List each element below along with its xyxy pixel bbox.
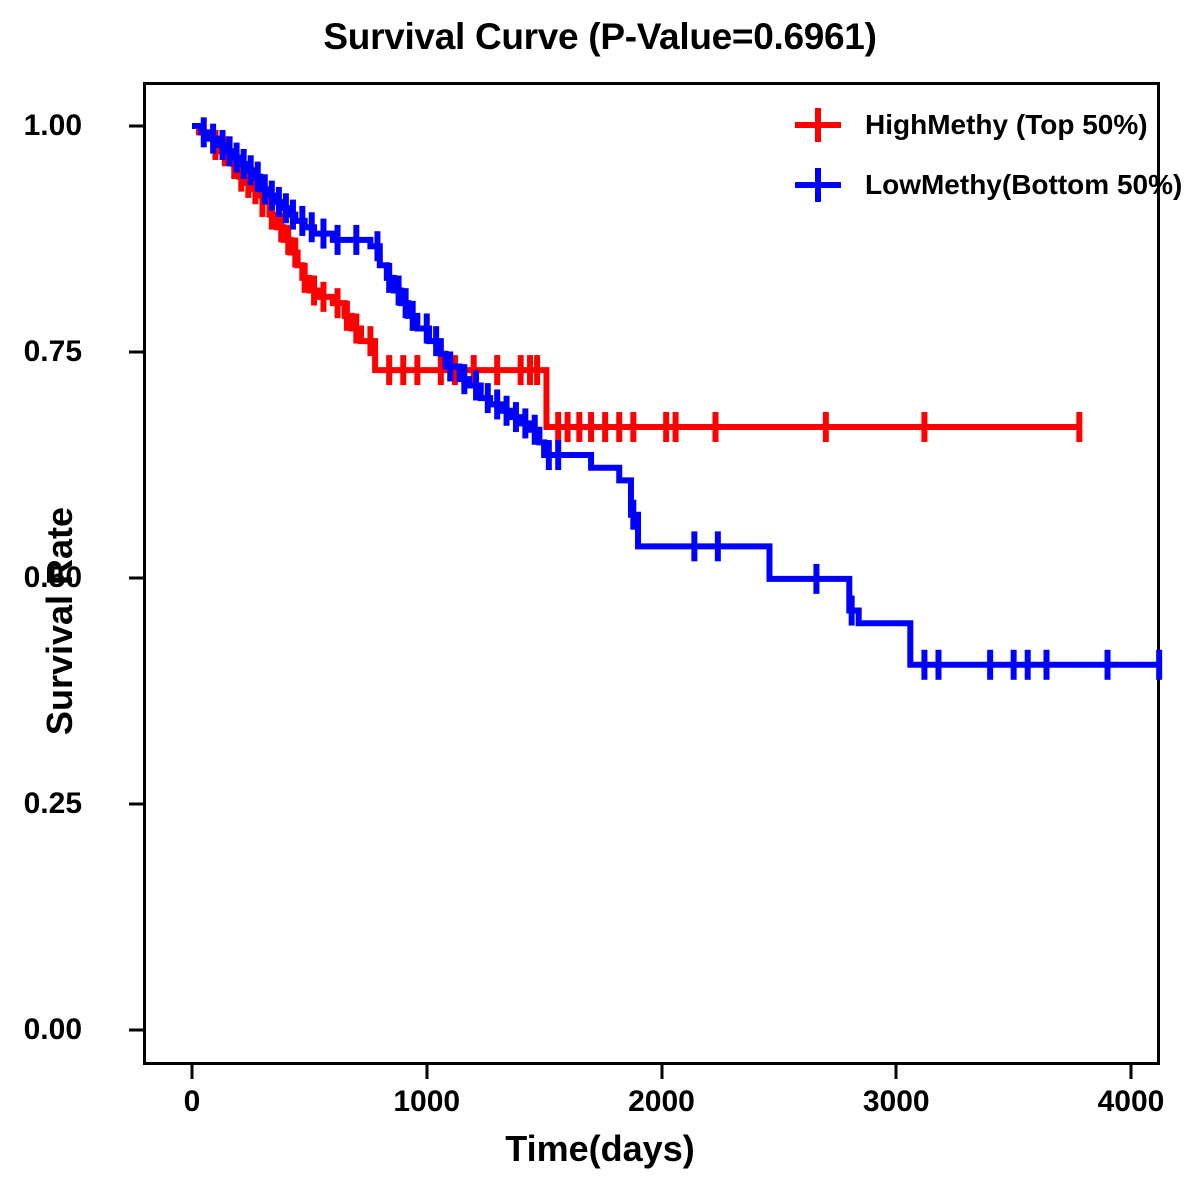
y-tick-label: 1.00 xyxy=(24,109,82,143)
y-tick-label: 0.00 xyxy=(24,1013,82,1047)
y-axis-title: Survival Rate xyxy=(39,491,81,751)
chart-legend: HighMethy (Top 50%)LowMethy(Bottom 50%) xyxy=(795,108,1182,202)
x-tick-mark xyxy=(425,1065,428,1079)
x-tick-label: 3000 xyxy=(863,1085,930,1119)
legend-item[interactable]: HighMethy (Top 50%) xyxy=(795,108,1182,142)
y-tick-mark xyxy=(129,577,143,580)
y-tick-mark xyxy=(129,1029,143,1032)
x-tick-label: 0 xyxy=(184,1085,201,1119)
x-tick-mark xyxy=(191,1065,194,1079)
y-tick-mark xyxy=(129,125,143,128)
y-tick-mark xyxy=(129,351,143,354)
x-axis-title: Time(days) xyxy=(0,1128,1200,1170)
x-tick-mark xyxy=(660,1065,663,1079)
y-tick-label: 0.75 xyxy=(24,335,82,369)
survival-chart-figure: Survival Curve (P-Value=0.6961) 0.000.25… xyxy=(0,0,1200,1200)
plot-area xyxy=(143,82,1160,1065)
legend-item[interactable]: LowMethy(Bottom 50%) xyxy=(795,168,1182,202)
x-tick-label: 1000 xyxy=(393,1085,460,1119)
x-tick-label: 4000 xyxy=(1098,1085,1165,1119)
legend-label: HighMethy (Top 50%) xyxy=(865,109,1148,141)
x-tick-label: 2000 xyxy=(628,1085,695,1119)
legend-label: LowMethy(Bottom 50%) xyxy=(865,169,1182,201)
legend-plus-icon xyxy=(795,108,841,142)
y-tick-mark xyxy=(129,803,143,806)
x-tick-mark xyxy=(895,1065,898,1079)
x-tick-mark xyxy=(1130,1065,1133,1079)
legend-plus-icon xyxy=(795,168,841,202)
chart-title: Survival Curve (P-Value=0.6961) xyxy=(0,16,1200,58)
y-tick-label: 0.25 xyxy=(24,787,82,821)
